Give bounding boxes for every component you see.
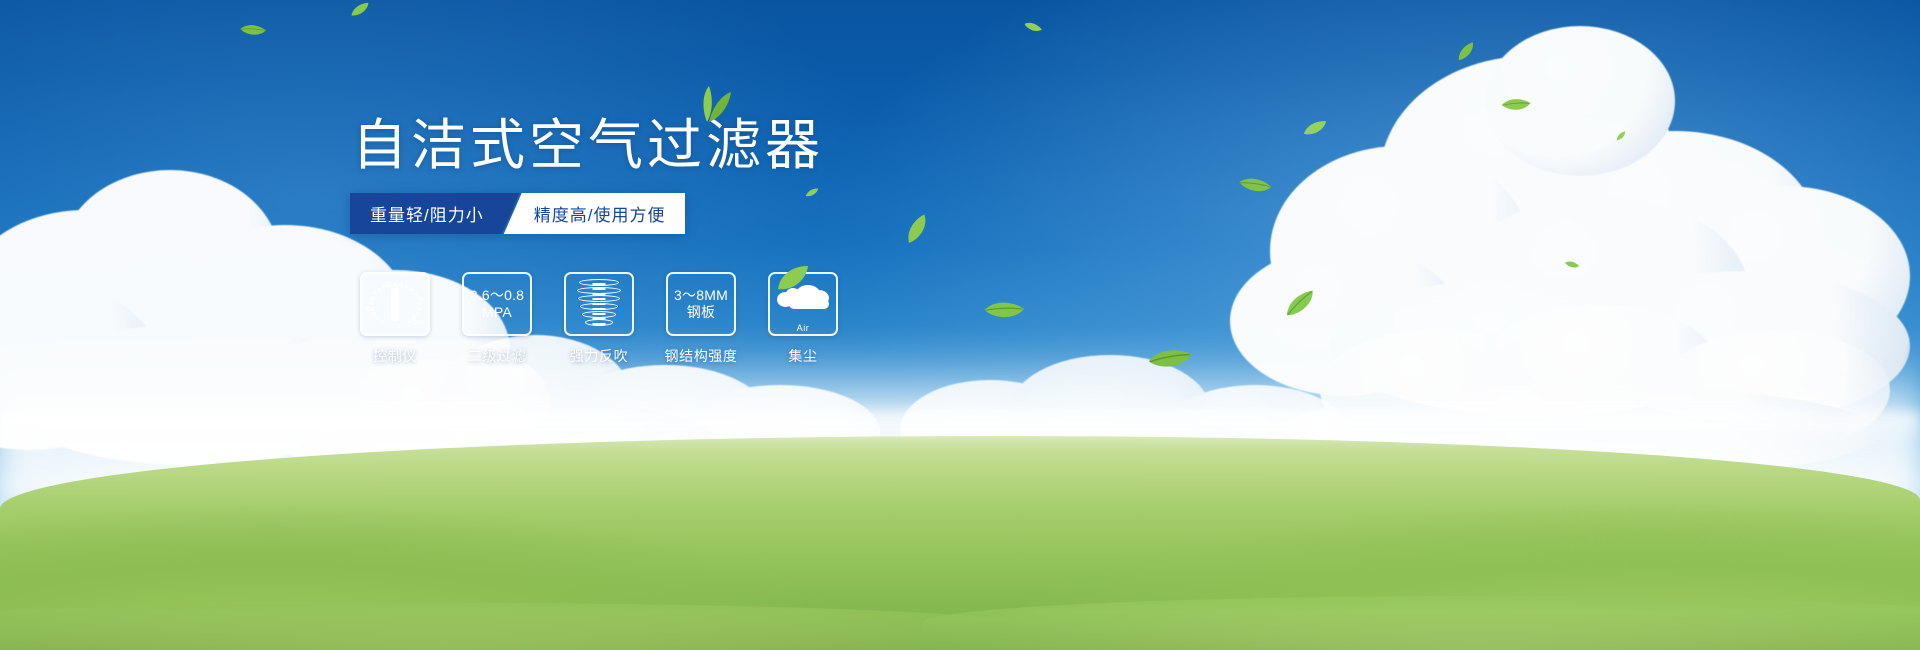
steel-thickness-line-1: 3～8MM — [674, 287, 728, 304]
feature-icon-box: 0.6～0.8 MPA — [462, 272, 532, 336]
air-text-label: Air — [797, 323, 810, 333]
coil-blowback-icon — [575, 279, 623, 329]
feature-item-steel-strength: 3～8MM 钢板 钢结构强度 — [664, 272, 738, 366]
gauge-label-off: OFF — [413, 320, 424, 326]
feature-item-two-stage-filtration: 0.6～0.8 MPA 二级过滤 — [460, 272, 534, 366]
page-title: 自洁式空气过滤器 — [352, 118, 824, 173]
gauge-label-no: NO — [365, 307, 373, 313]
feature-icon-box: 3～8MM 钢板 — [666, 272, 736, 336]
feature-tag-strip: 重量轻/阻力小 精度高/使用方便 — [350, 193, 685, 234]
feature-item-strong-blowback: 强力反吹 — [562, 272, 636, 366]
title-leaf-icon — [682, 84, 734, 129]
feature-label: 集尘 — [788, 346, 817, 366]
title-block: 自洁式空气过滤器 — [352, 118, 824, 173]
banner-content: 自洁式空气过滤器 重量轻/阻力小 精度高/使用方便 — [0, 0, 1920, 650]
feature-icon-box — [564, 272, 634, 336]
feature-icon-box: Air — [768, 272, 838, 336]
tag-highprecision-easyuse: 精度高/使用方便 — [504, 193, 686, 234]
feature-item-controller: NO OFF 控制仪 — [358, 272, 432, 366]
feature-label: 二级过滤 — [468, 346, 526, 366]
gauge-icon: NO OFF — [366, 279, 424, 329]
tag-lightweight-lowresistance: 重量轻/阻力小 — [350, 193, 520, 234]
cloud-air-icon — [773, 276, 833, 322]
pressure-value-line-1: 0.6～0.8 — [470, 287, 524, 304]
feature-label: 强力反吹 — [570, 346, 628, 366]
steel-thickness-line-2: 钢板 — [687, 304, 715, 321]
feature-label: 控制仪 — [373, 346, 417, 366]
feature-icon-box: NO OFF — [360, 272, 430, 336]
feature-icon-row: NO OFF 控制仪 0.6～0.8 MPA 二级过滤 — [358, 272, 840, 366]
pressure-value-line-2: MPA — [482, 304, 512, 321]
product-banner: 自洁式空气过滤器 重量轻/阻力小 精度高/使用方便 — [0, 0, 1920, 650]
gauge-needle — [391, 288, 399, 321]
feature-label: 钢结构强度 — [665, 346, 738, 366]
feature-item-dust-collection: Air 集尘 — [766, 272, 840, 366]
